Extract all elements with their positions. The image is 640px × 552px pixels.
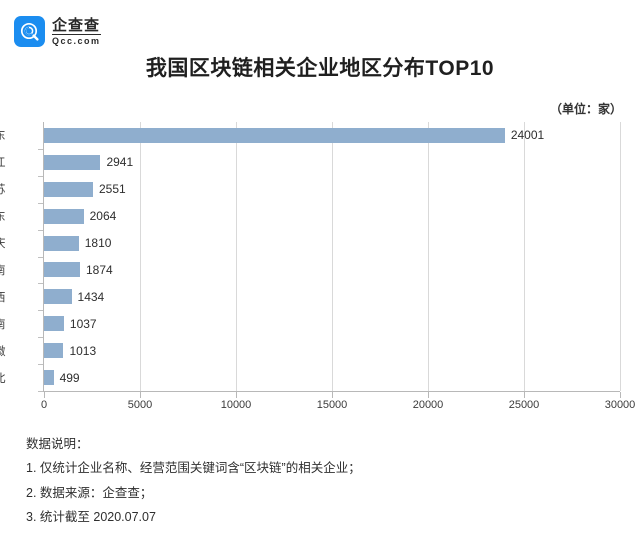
x-axis-tick (140, 392, 141, 398)
bar-row[interactable]: 24001 (44, 128, 544, 143)
bar-row[interactable]: 1434 (44, 289, 104, 304)
gridline (524, 122, 525, 391)
bar-value-label: 1434 (78, 290, 105, 304)
gridline (620, 122, 621, 391)
x-axis-label: 0 (41, 399, 47, 411)
category-label: 重庆 (0, 235, 17, 251)
bar-value-label: 1013 (69, 344, 96, 358)
category-label: 广东 (0, 127, 17, 143)
notes-line-2: 2. 数据来源：企查查； (26, 481, 361, 505)
category-label: 湖南 (0, 316, 17, 332)
bar-row[interactable]: 1037 (44, 316, 97, 331)
brand-name-en: Qcc.com (52, 37, 101, 46)
unit-note: （单位：家） (550, 100, 622, 117)
x-axis-label: 20000 (413, 399, 444, 411)
y-axis-tick (38, 364, 43, 365)
bar[interactable] (44, 289, 72, 304)
x-axis-tick (524, 392, 525, 398)
brand-text: 企查查 Qcc.com (52, 18, 101, 46)
gridline (140, 122, 141, 391)
bar-value-label: 2941 (106, 155, 133, 169)
qcc-logo-icon (14, 16, 45, 47)
bar-value-label: 499 (60, 371, 80, 385)
category-label: 陕西 (0, 289, 17, 305)
x-axis-label: 25000 (509, 399, 540, 411)
x-axis-tick (620, 392, 621, 398)
y-axis-tick (38, 203, 43, 204)
y-axis-tick (38, 310, 43, 311)
bar-row[interactable]: 2941 (44, 155, 133, 170)
y-axis-tick (38, 230, 43, 231)
bar[interactable] (44, 236, 79, 251)
category-label: 江苏 (0, 181, 17, 197)
bar-value-label: 24001 (511, 128, 544, 142)
y-axis-tick (38, 391, 43, 392)
data-notes: 数据说明： 1. 仅统计企业名称、经营范围关键词含“区块链”的相关企业； 2. … (26, 432, 361, 530)
bar-value-label: 1874 (86, 263, 113, 277)
plot-area: 05000100001500020000250003000024001广东294… (43, 122, 620, 392)
bar[interactable] (44, 343, 63, 358)
bar[interactable] (44, 128, 505, 143)
x-axis-tick (332, 392, 333, 398)
brand-logo: 企查查 Qcc.com (14, 16, 101, 47)
brand-name-cn: 企查查 (52, 18, 101, 35)
x-axis-label: 10000 (221, 399, 252, 411)
bar-value-label: 2551 (99, 182, 126, 196)
bar[interactable] (44, 155, 100, 170)
y-axis-tick (38, 257, 43, 258)
category-label: 安徽 (0, 343, 17, 359)
chart-page: 企查查 Qcc.com 我国区块链相关企业地区分布TOP10 （单位：家） 05… (0, 0, 640, 552)
y-axis-tick (38, 176, 43, 177)
x-axis-tick (236, 392, 237, 398)
bar-row[interactable]: 1874 (44, 262, 113, 277)
notes-heading: 数据说明： (26, 432, 361, 456)
x-axis-tick (44, 392, 45, 398)
gridline (428, 122, 429, 391)
bar-chart: 05000100001500020000250003000024001广东294… (0, 122, 640, 412)
bar-value-label: 1037 (70, 317, 97, 331)
category-label: 海南 (0, 262, 17, 278)
x-axis-tick (428, 392, 429, 398)
bar[interactable] (44, 316, 64, 331)
bar[interactable] (44, 209, 84, 224)
bar-row[interactable]: 1013 (44, 343, 96, 358)
category-label: 湖北 (0, 370, 17, 386)
bar[interactable] (44, 370, 54, 385)
bar-row[interactable]: 2064 (44, 209, 116, 224)
bar-value-label: 1810 (85, 236, 112, 250)
bar-row[interactable]: 499 (44, 370, 80, 385)
y-axis-tick (38, 149, 43, 150)
category-label: 浙江 (0, 154, 17, 170)
y-axis-tick (38, 283, 43, 284)
page-title: 我国区块链相关企业地区分布TOP10 (0, 52, 640, 82)
gridline (332, 122, 333, 391)
x-axis-label: 5000 (128, 399, 152, 411)
notes-line-1: 1. 仅统计企业名称、经营范围关键词含“区块链”的相关企业； (26, 456, 361, 480)
gridline (236, 122, 237, 391)
bar-row[interactable]: 1810 (44, 236, 111, 251)
bar-row[interactable]: 2551 (44, 182, 126, 197)
notes-line-3: 3. 统计截至 2020.07.07 (26, 505, 361, 529)
category-label: 山东 (0, 208, 17, 224)
bar-value-label: 2064 (90, 209, 117, 223)
y-axis-tick (38, 337, 43, 338)
bar[interactable] (44, 182, 93, 197)
x-axis-label: 30000 (605, 399, 636, 411)
x-axis-label: 15000 (317, 399, 348, 411)
bar[interactable] (44, 262, 80, 277)
